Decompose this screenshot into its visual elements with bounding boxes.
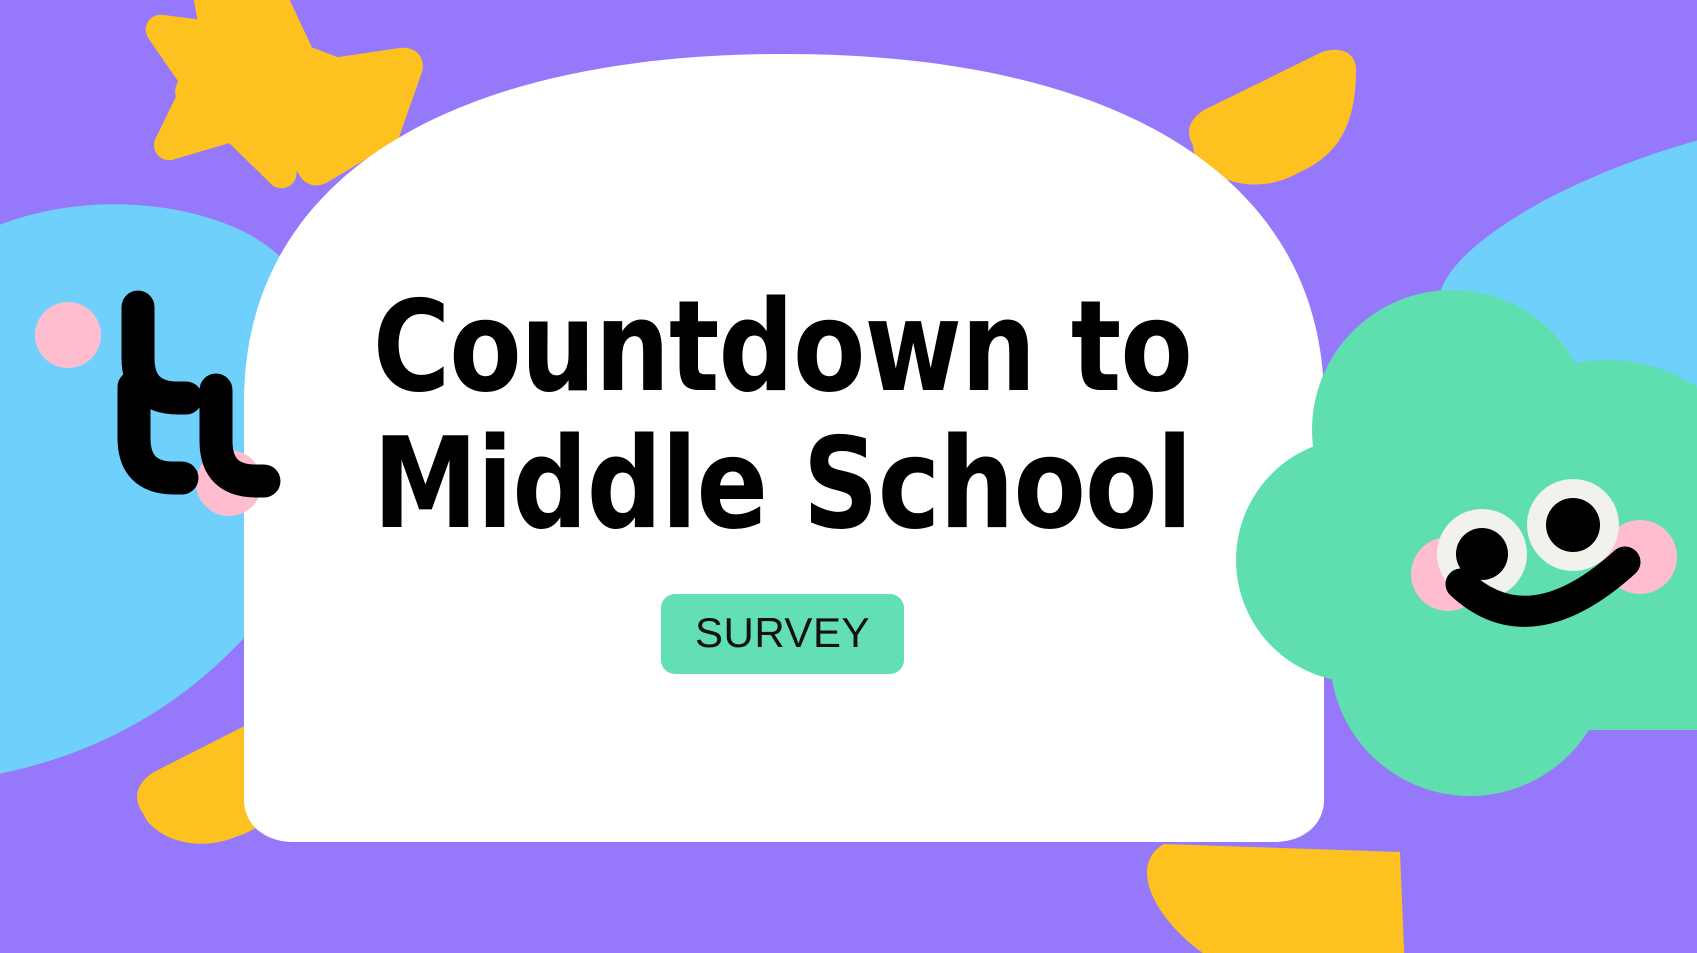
black-confetti-mark-3-icon	[216, 390, 264, 481]
pink-dot-upper-icon	[35, 302, 101, 368]
foreground-decoration-layer	[0, 0, 1697, 953]
cta-container: SURVEY	[661, 594, 904, 674]
survey-button[interactable]: SURVEY	[661, 594, 904, 674]
green-cloud-mascot	[1236, 290, 1697, 796]
mascot-right-eye-pupil	[1546, 498, 1600, 552]
poster-canvas: Countdown to Middle School SURVEY	[0, 0, 1697, 953]
